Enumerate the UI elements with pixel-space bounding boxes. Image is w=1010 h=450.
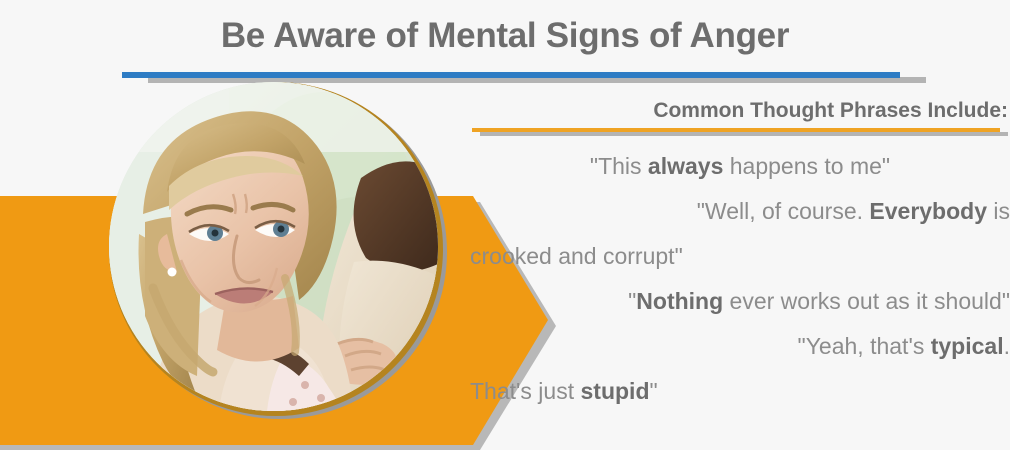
quote-everybody-line-2: crooked and corrupt" (470, 234, 1010, 279)
title-block: Be Aware of Mental Signs of Anger (0, 14, 1010, 74)
content-panel: Common Thought Phrases Include: "This al… (470, 96, 1010, 140)
emphasis-text: always (648, 153, 723, 179)
emphasis-text: Everybody (869, 198, 987, 224)
quote-list: "This always happens to me""Well, of cou… (470, 144, 1010, 414)
photo-container (109, 82, 443, 416)
subtitle-rule-accent (472, 128, 1000, 132)
photo-woman-portrait (109, 82, 438, 411)
quote-text: "Well, of course. (697, 198, 870, 224)
quote-text: . (1004, 333, 1010, 359)
emphasis-text: Nothing (636, 288, 723, 314)
quote-text: happens to me" (723, 153, 890, 179)
subtitle: Common Thought Phrases Include: (470, 96, 1008, 126)
quote-text: That's just (470, 378, 581, 404)
quote-text: is (987, 198, 1010, 224)
quote-nothing-line-1: "Nothing ever works out as it should" (470, 279, 1010, 324)
page-title: Be Aware of Mental Signs of Anger (0, 14, 1010, 58)
title-rule-accent (122, 72, 900, 78)
subtitle-rule-shadow (480, 132, 1008, 136)
quote-text: ever works out as it should" (723, 288, 1010, 314)
quote-text: " (650, 378, 658, 404)
quote-text: crooked and corrupt" (470, 243, 683, 269)
quote-text: "This (590, 153, 648, 179)
quote-typical-line-2: That's just stupid" (470, 369, 1010, 414)
emphasis-text: typical (931, 333, 1004, 359)
infographic-slide: Be Aware of Mental Signs of Anger (0, 0, 1010, 450)
quote-everybody-line-1: "Well, of course. Everybody is (470, 189, 1010, 234)
subtitle-block: Common Thought Phrases Include: (470, 96, 1010, 140)
quote-typical-line-1: "Yeah, that's typical. (470, 324, 1010, 369)
emphasis-text: stupid (581, 378, 650, 404)
quote-always-line-1: "This always happens to me" (470, 144, 1010, 189)
quote-text: "Yeah, that's (798, 333, 931, 359)
